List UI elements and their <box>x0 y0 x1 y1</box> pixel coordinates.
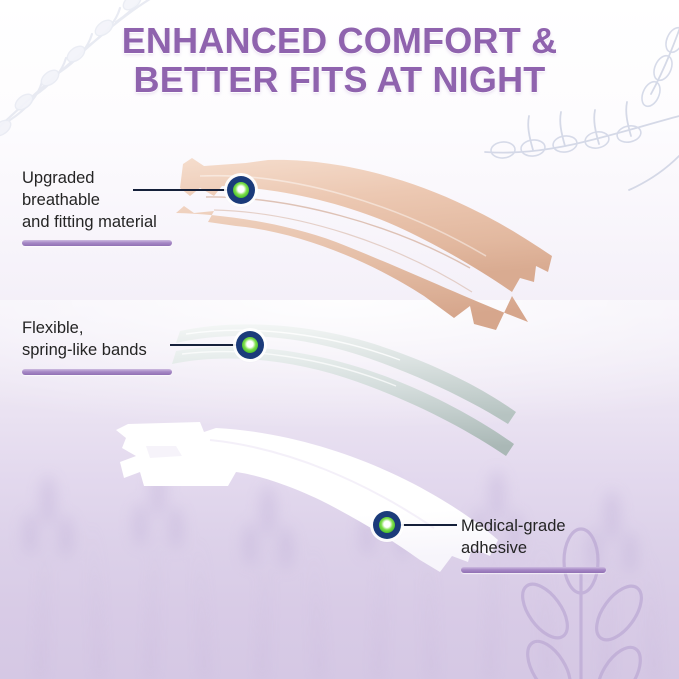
callout-marker-breathable[interactable] <box>227 176 255 204</box>
callout-breathable-label: Upgraded breathable and fitting material <box>22 168 172 233</box>
callout-breathable-underline <box>22 240 172 246</box>
leader-line-bands <box>170 344 238 346</box>
callout-bands-underline <box>22 369 172 375</box>
callout-bands-label: Flexible, spring-like bands <box>22 318 172 362</box>
callout-marker-adhesive[interactable] <box>373 511 401 539</box>
leader-line-adhesive <box>399 524 457 526</box>
callout-adhesive-underline <box>461 567 606 573</box>
adhesive-layer <box>116 422 498 572</box>
callout-bands: Flexible, spring-like bands <box>22 318 172 375</box>
callout-adhesive-label: Medical-grade adhesive <box>461 516 606 560</box>
callout-marker-bands[interactable] <box>236 331 264 359</box>
poster-canvas: ENHANCED COMFORT & BETTER FITS AT NIGHT <box>0 0 679 679</box>
callout-adhesive: Medical-grade adhesive <box>461 516 606 573</box>
callout-breathable: Upgraded breathable and fitting material <box>22 168 172 246</box>
